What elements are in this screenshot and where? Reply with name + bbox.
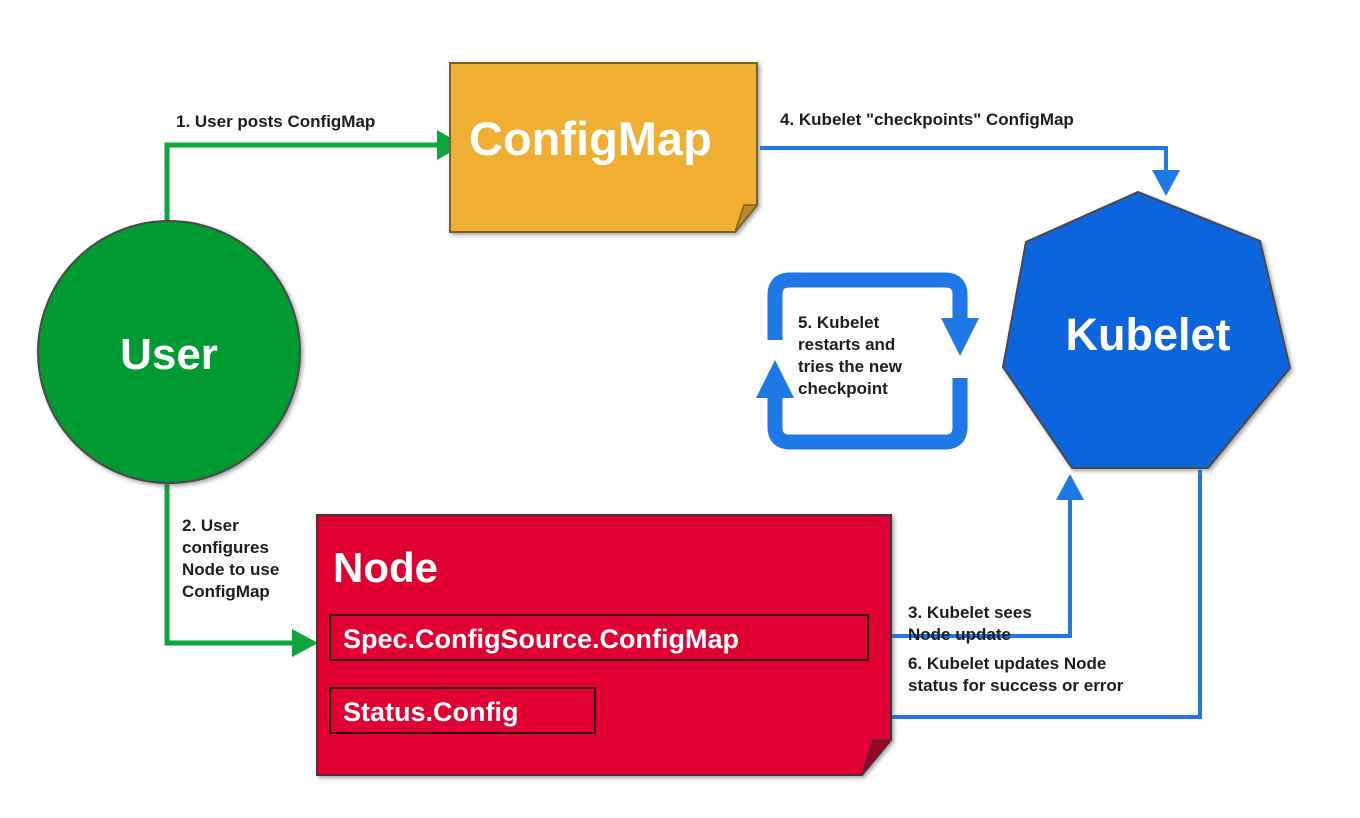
edge-2-label-line-3: Node to use — [182, 560, 279, 579]
edge-1-label: 1. User posts ConfigMap — [176, 112, 375, 131]
edge-3-label-line-2: Node update — [908, 625, 1011, 644]
edge-2-label-line-1: 2. User — [182, 516, 239, 535]
node-configmap[interactable]: ConfigMap — [450, 63, 757, 232]
node-node-label: Node — [333, 544, 438, 591]
edge-2-label: 2. User configures Node to use ConfigMap — [182, 516, 279, 601]
node-kubelet[interactable]: Kubelet — [1003, 192, 1290, 468]
edge-4-kubelet-checkpoints-configmap: 4. Kubelet "checkpoints" ConfigMap — [760, 110, 1180, 196]
edge-5-down-arrowhead — [941, 318, 979, 356]
edge-2-user-configures-node: 2. User configures Node to use ConfigMap — [167, 470, 318, 657]
edge-5-label-line-2: restarts and — [798, 335, 895, 354]
edge-5-label: 5. Kubelet restarts and tries the new ch… — [798, 313, 903, 398]
node-kubelet-label: Kubelet — [1065, 309, 1230, 360]
node-user-label: User — [120, 330, 218, 379]
edge-3-label-line-1: 3. Kubelet sees — [908, 603, 1032, 622]
spec-field-label: Spec.ConfigSource.ConfigMap — [343, 624, 739, 654]
edge-5-label-line-3: tries the new — [798, 357, 903, 376]
edge-5-kubelet-restarts-loop: 5. Kubelet restarts and tries the new ch… — [756, 280, 979, 442]
edge-5-label-line-1: 5. Kubelet — [798, 313, 880, 332]
edge-6-label-line-2: status for success or error — [908, 676, 1124, 695]
edge-5-label-line-4: checkpoint — [798, 379, 888, 398]
node-configmap-label: ConfigMap — [469, 112, 712, 165]
edge-4-line — [760, 148, 1166, 170]
edge-2-arrowhead — [292, 629, 318, 657]
diagram-canvas: 1. User posts ConfigMap 2. User configur… — [0, 0, 1360, 818]
edge-6-label-line-1: 6. Kubelet updates Node — [908, 654, 1106, 673]
edge-2-label-line-2: configures — [182, 538, 269, 557]
edge-3-kubelet-sees-node-update: 3. Kubelet sees Node update — [868, 474, 1084, 644]
edge-5-up-arrowhead — [756, 360, 794, 398]
edge-4-arrowhead — [1152, 170, 1180, 196]
node-user[interactable]: User — [38, 221, 300, 483]
edge-4-label: 4. Kubelet "checkpoints" ConfigMap — [780, 110, 1074, 129]
edge-1-user-posts-configmap: 1. User posts ConfigMap — [167, 112, 463, 243]
kubelet-config-flow-diagram: 1. User posts ConfigMap 2. User configur… — [0, 0, 1360, 818]
status-field-label: Status.Config — [343, 697, 519, 727]
node-node[interactable]: Node Spec.ConfigSource.ConfigMap Status.… — [317, 515, 891, 775]
edge-6-label: 6. Kubelet updates Node status for succe… — [908, 654, 1124, 695]
edge-3-arrowhead — [1056, 474, 1084, 500]
edge-2-label-line-4: ConfigMap — [182, 582, 270, 601]
